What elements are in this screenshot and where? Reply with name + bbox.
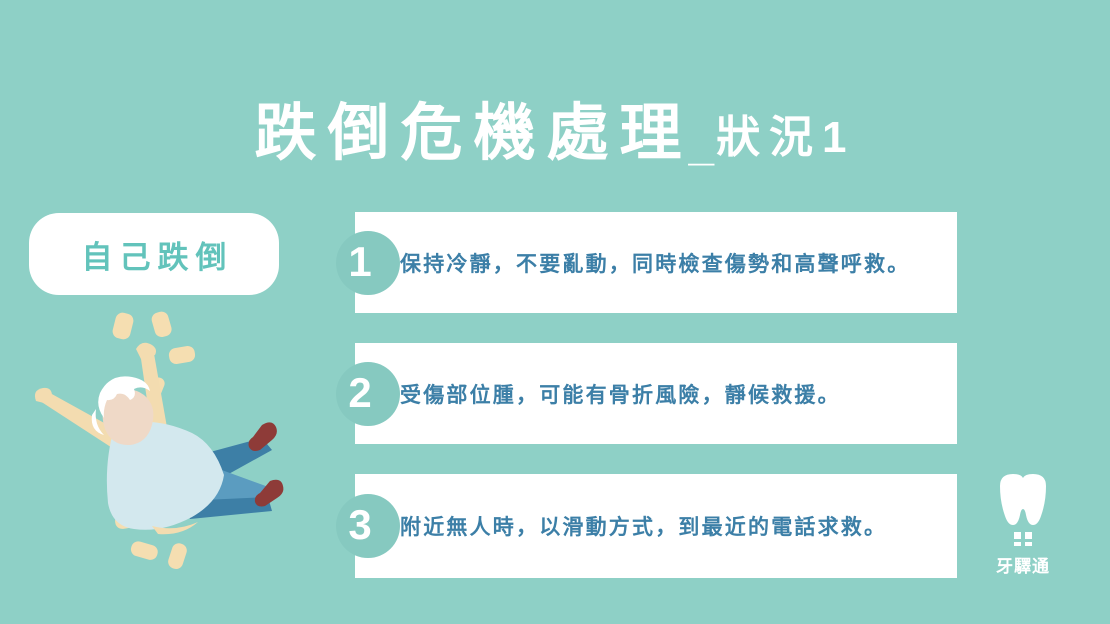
logo-square-4 bbox=[1025, 542, 1032, 546]
logo-square-1 bbox=[1014, 532, 1021, 539]
step-number: 1 bbox=[348, 241, 371, 283]
step-text: 保持冷靜，不要亂動，同時檢查傷勢和高聲呼救。 bbox=[400, 248, 910, 278]
step-number-circle: 3 bbox=[336, 494, 400, 558]
step-row: 2 受傷部位腫，可能有骨折風險，靜候救援。 bbox=[336, 343, 957, 444]
step-number-circle: 1 bbox=[336, 231, 400, 295]
infographic-poster: 跌倒危機處理_狀況1 自己跌倒 1 保持冷靜，不要亂動，同時檢查傷勢和高聲呼救。… bbox=[0, 0, 1110, 624]
category-badge-label: 自己跌倒 bbox=[75, 232, 234, 277]
step-row: 3 附近無人時，以滑動方式，到最近的電話求救。 bbox=[336, 474, 957, 578]
logo-square-3 bbox=[1014, 542, 1021, 546]
category-badge: 自己跌倒 bbox=[29, 213, 279, 295]
step-row: 1 保持冷靜，不要亂動，同時檢查傷勢和高聲呼救。 bbox=[336, 212, 957, 313]
elderly-person-falling-illustration bbox=[22, 305, 322, 600]
logo-square-2 bbox=[1025, 532, 1032, 539]
tooth-icon bbox=[992, 472, 1054, 546]
title-sub-text: 狀況1 bbox=[716, 101, 855, 165]
step-number-circle: 2 bbox=[336, 362, 400, 426]
brand-name: 牙驛通 bbox=[978, 552, 1068, 577]
step-number: 2 bbox=[348, 372, 371, 414]
step-text: 受傷部位腫，可能有骨折風險，靜候救援。 bbox=[400, 379, 841, 409]
step-number: 3 bbox=[348, 504, 371, 546]
step-text: 附近無人時，以滑動方式，到最近的電話求救。 bbox=[400, 511, 887, 541]
brand-logo: 牙驛通 bbox=[978, 472, 1068, 577]
title-separator: _ bbox=[688, 117, 714, 171]
shoe-right bbox=[249, 422, 277, 451]
page-title: 跌倒危機處理_狀況1 bbox=[0, 82, 1110, 172]
title-main-text: 跌倒危機處理 bbox=[254, 82, 692, 172]
